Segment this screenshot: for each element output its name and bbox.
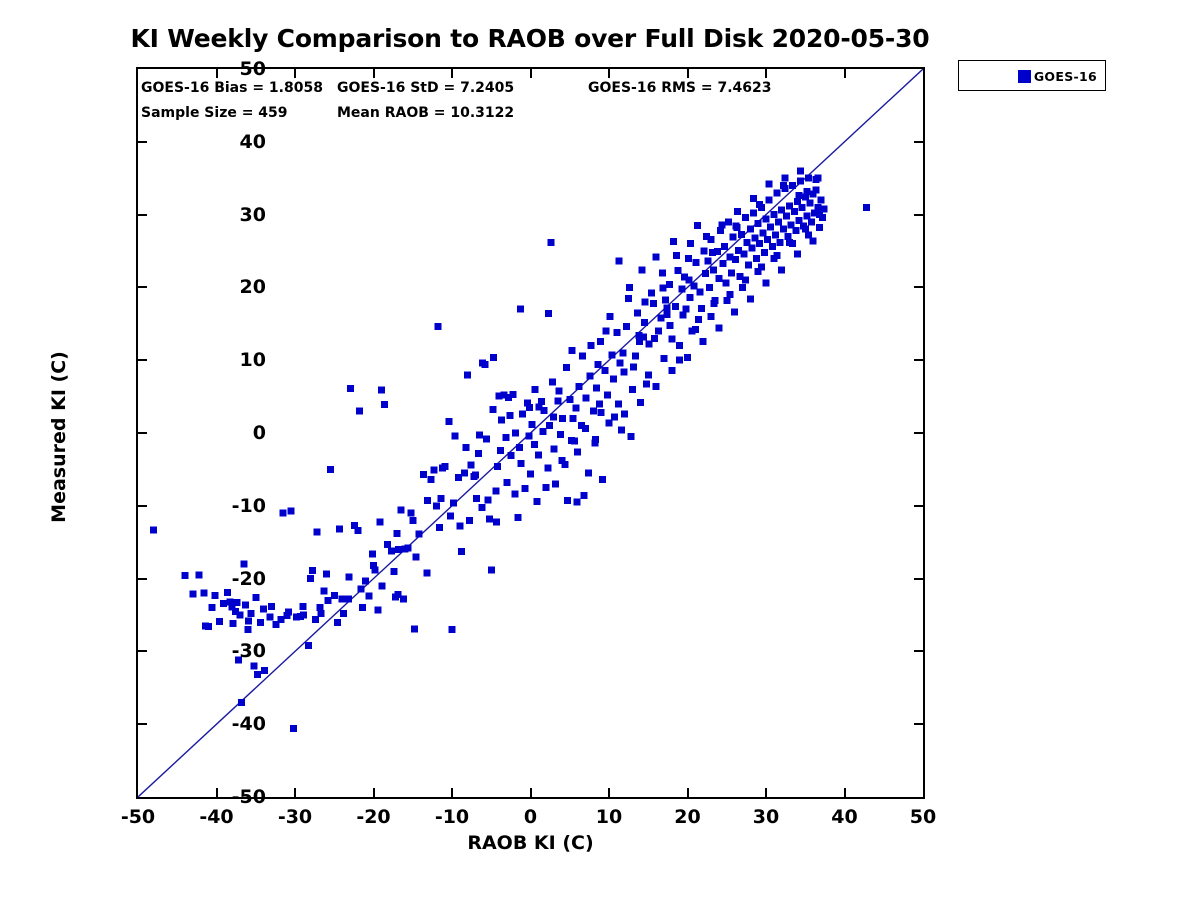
data-point <box>277 616 284 623</box>
data-point <box>821 205 828 212</box>
y-tick-40 <box>914 141 923 143</box>
data-point <box>741 250 748 257</box>
data-point <box>747 296 754 303</box>
data-point <box>621 411 628 418</box>
data-point <box>356 408 363 415</box>
x-tick-label--40: -40 <box>172 806 262 828</box>
x-tick--30 <box>294 788 296 797</box>
data-point <box>568 437 575 444</box>
data-point <box>694 222 701 229</box>
data-point <box>750 210 757 217</box>
data-point <box>733 223 740 230</box>
data-point <box>555 387 562 394</box>
data-point <box>461 470 468 477</box>
data-point <box>780 182 787 189</box>
data-point <box>645 371 652 378</box>
data-point <box>512 430 519 437</box>
data-point <box>573 499 580 506</box>
y-tick-label--30: -30 <box>176 640 266 662</box>
data-point <box>664 304 671 311</box>
data-point <box>285 609 292 616</box>
data-point <box>725 218 732 225</box>
data-point <box>613 329 620 336</box>
data-point <box>698 305 705 312</box>
data-point <box>365 593 372 600</box>
data-point <box>731 309 738 316</box>
data-point <box>789 240 796 247</box>
y-tick--40 <box>138 723 147 725</box>
x-tick--20 <box>373 788 375 797</box>
data-point <box>552 480 559 487</box>
data-point <box>582 425 589 432</box>
data-point <box>730 234 737 241</box>
data-point <box>394 530 401 537</box>
data-point <box>715 275 722 282</box>
data-point <box>558 457 565 464</box>
y-tick-10 <box>138 359 147 361</box>
data-point <box>485 496 492 503</box>
data-point <box>532 386 539 393</box>
data-point <box>251 662 258 669</box>
data-point <box>216 618 223 625</box>
chart-canvas: KI Weekly Comparison to RAOB over Full D… <box>0 0 1200 900</box>
y-tick-label-10: 10 <box>176 349 266 371</box>
data-point <box>519 411 526 418</box>
data-point <box>305 642 312 649</box>
data-point <box>766 181 773 188</box>
data-point <box>434 323 441 330</box>
data-point <box>449 626 456 633</box>
data-point <box>563 364 570 371</box>
data-point <box>769 243 776 250</box>
x-axis-title: RAOB KI (C) <box>136 832 925 854</box>
data-point <box>483 435 490 442</box>
data-point <box>517 306 524 313</box>
data-point <box>458 548 465 555</box>
x-tick-label-50: 50 <box>878 806 968 828</box>
data-point <box>334 619 341 626</box>
data-point <box>242 601 249 608</box>
data-point <box>481 361 488 368</box>
data-point <box>573 405 580 412</box>
data-point <box>492 488 499 495</box>
data-point <box>632 352 639 359</box>
data-point <box>704 258 711 265</box>
data-point <box>522 485 529 492</box>
y-tick--10 <box>138 505 147 507</box>
data-point <box>797 167 804 174</box>
data-point <box>675 267 682 274</box>
x-tick-30 <box>765 788 767 797</box>
data-point <box>538 398 545 405</box>
page-title: KI Weekly Comparison to RAOB over Full D… <box>0 24 1060 53</box>
data-point <box>643 381 650 388</box>
data-point <box>797 178 804 185</box>
data-point <box>379 582 386 589</box>
data-point <box>778 266 785 273</box>
data-point <box>331 592 338 599</box>
data-point <box>609 352 616 359</box>
data-point <box>638 266 645 273</box>
data-point <box>525 432 532 439</box>
data-point <box>490 354 497 361</box>
data-point <box>268 603 275 610</box>
data-point <box>579 352 586 359</box>
data-point <box>288 507 295 514</box>
x-tick-40 <box>844 69 846 78</box>
data-point <box>245 617 252 624</box>
data-point <box>806 199 813 206</box>
data-point <box>526 404 533 411</box>
data-point <box>574 448 581 455</box>
data-point <box>706 284 713 291</box>
data-point <box>610 376 617 383</box>
data-point <box>543 484 550 491</box>
data-point <box>476 432 483 439</box>
data-point <box>430 467 437 474</box>
data-point <box>708 313 715 320</box>
data-point <box>653 253 660 260</box>
data-point <box>511 491 518 498</box>
data-point <box>569 347 576 354</box>
data-point <box>489 406 496 413</box>
data-point <box>339 595 346 602</box>
data-point <box>503 479 510 486</box>
data-point <box>750 195 757 202</box>
data-point <box>323 571 330 578</box>
data-point <box>783 213 790 220</box>
x-tick-label--30: -30 <box>250 806 340 828</box>
data-point <box>557 431 564 438</box>
data-point <box>411 625 418 632</box>
data-point <box>686 277 693 284</box>
data-point <box>438 495 445 502</box>
data-point <box>336 526 343 533</box>
data-point <box>668 367 675 374</box>
data-point <box>684 354 691 361</box>
y-tick-label-40: 40 <box>176 131 266 153</box>
data-point <box>710 266 717 273</box>
data-point <box>397 507 404 514</box>
data-point <box>863 204 870 211</box>
x-tick-10 <box>608 69 610 78</box>
legend-label-goes-16: GOES-16 <box>1034 69 1097 84</box>
data-point <box>324 597 331 604</box>
x-tick--30 <box>294 69 296 78</box>
data-point <box>664 311 671 318</box>
data-point <box>722 280 729 287</box>
data-point <box>447 512 454 519</box>
data-point <box>580 492 587 499</box>
data-point <box>679 285 686 292</box>
data-point <box>618 427 625 434</box>
y-tick-0 <box>914 432 923 434</box>
data-point <box>340 610 347 617</box>
data-point <box>384 541 391 548</box>
data-point <box>452 432 459 439</box>
data-point <box>780 226 787 233</box>
data-point <box>211 592 218 599</box>
data-point <box>686 294 693 301</box>
data-point <box>450 499 457 506</box>
data-point <box>473 495 480 502</box>
data-point <box>648 290 655 297</box>
data-point <box>630 363 637 370</box>
data-point <box>805 175 812 182</box>
data-point <box>695 316 702 323</box>
data-point <box>233 599 240 606</box>
data-point <box>416 531 423 538</box>
data-point <box>685 255 692 262</box>
data-point <box>549 379 556 386</box>
data-point <box>359 604 366 611</box>
data-point <box>597 338 604 345</box>
data-point <box>220 600 227 607</box>
data-point <box>676 357 683 364</box>
data-point <box>634 309 641 316</box>
data-point <box>753 255 760 262</box>
data-point <box>569 415 576 422</box>
data-point <box>766 197 773 204</box>
data-point <box>732 256 739 263</box>
data-point <box>625 295 632 302</box>
data-point <box>381 401 388 408</box>
y-tick-40 <box>138 141 147 143</box>
data-point <box>564 497 571 504</box>
data-point <box>697 288 704 295</box>
data-point <box>585 470 592 477</box>
data-point <box>620 349 627 356</box>
data-point <box>189 590 196 597</box>
data-point <box>467 462 474 469</box>
data-point <box>400 595 407 602</box>
y-tick-10 <box>914 359 923 361</box>
data-point <box>472 472 479 479</box>
data-point <box>606 313 613 320</box>
data-point <box>657 314 664 321</box>
data-point <box>659 269 666 276</box>
data-point <box>602 367 609 374</box>
data-point <box>257 619 264 626</box>
x-tick--20 <box>373 69 375 78</box>
x-tick-label-30: 30 <box>721 806 811 828</box>
data-point <box>595 361 602 368</box>
y-tick-20 <box>914 286 923 288</box>
data-point <box>583 395 590 402</box>
data-point <box>527 470 534 477</box>
data-point <box>660 285 667 292</box>
data-point <box>376 518 383 525</box>
data-point <box>721 243 728 250</box>
x-tick--10 <box>451 788 453 797</box>
y-tick--20 <box>914 578 923 580</box>
y-tick-label-20: 20 <box>176 276 266 298</box>
data-point <box>814 175 821 182</box>
data-point <box>545 310 552 317</box>
data-point <box>266 614 273 621</box>
data-point <box>309 567 316 574</box>
data-point <box>466 517 473 524</box>
data-point <box>252 594 259 601</box>
data-point <box>773 189 780 196</box>
data-point <box>764 236 771 243</box>
data-point <box>347 385 354 392</box>
data-point <box>756 240 763 247</box>
data-point <box>758 264 765 271</box>
data-point <box>507 412 514 419</box>
y-tick-label-0: 0 <box>176 422 266 444</box>
x-tick-20 <box>687 788 689 797</box>
data-point <box>390 568 397 575</box>
data-point <box>653 383 660 390</box>
data-point <box>604 392 611 399</box>
data-point <box>307 575 314 582</box>
x-tick-label-10: 10 <box>564 806 654 828</box>
data-point <box>817 197 824 204</box>
data-point <box>299 603 306 610</box>
data-point <box>463 444 470 451</box>
y-tick-0 <box>138 432 147 434</box>
data-point <box>290 725 297 732</box>
data-point <box>510 391 517 398</box>
data-point <box>742 277 749 284</box>
y-tick-30 <box>138 214 147 216</box>
data-point <box>742 214 749 221</box>
data-point <box>456 523 463 530</box>
data-point <box>739 284 746 291</box>
data-point <box>591 440 598 447</box>
legend: GOES-16 <box>958 60 1106 91</box>
data-point <box>531 441 538 448</box>
data-point <box>795 192 802 199</box>
y-tick--40 <box>914 723 923 725</box>
data-point <box>362 577 369 584</box>
data-point <box>672 303 679 310</box>
data-point <box>606 419 613 426</box>
data-point <box>150 526 157 533</box>
y-tick--30 <box>138 650 147 652</box>
data-point <box>655 328 662 335</box>
data-point <box>756 201 763 208</box>
data-point <box>814 204 821 211</box>
data-point <box>640 333 647 340</box>
data-point <box>687 240 694 247</box>
y-tick-label-30: 30 <box>176 204 266 226</box>
data-point <box>755 220 762 227</box>
data-point <box>455 474 462 481</box>
data-point <box>759 229 766 236</box>
data-point <box>596 400 603 407</box>
data-point <box>533 498 540 505</box>
y-tick-30 <box>914 214 923 216</box>
data-point <box>775 218 782 225</box>
x-tick-30 <box>765 69 767 78</box>
data-point <box>327 466 334 473</box>
data-point <box>719 260 726 267</box>
data-point <box>551 446 558 453</box>
data-point <box>321 587 328 594</box>
data-point <box>773 252 780 259</box>
data-point <box>599 476 606 483</box>
data-point <box>554 397 561 404</box>
data-point <box>770 211 777 218</box>
data-point <box>312 616 319 623</box>
data-point <box>748 245 755 252</box>
y-tick--20 <box>138 578 147 580</box>
data-point <box>715 325 722 332</box>
data-point <box>535 451 542 458</box>
data-point <box>516 444 523 451</box>
data-point <box>405 545 412 552</box>
data-point <box>518 460 525 467</box>
data-point <box>260 606 267 613</box>
data-point <box>745 261 752 268</box>
data-point <box>803 188 810 195</box>
data-point <box>651 335 658 342</box>
data-point <box>423 569 430 576</box>
x-tick-label-20: 20 <box>643 806 733 828</box>
data-point <box>475 450 482 457</box>
data-point <box>747 226 754 233</box>
x-tick--10 <box>451 69 453 78</box>
data-point <box>224 589 231 596</box>
data-point <box>229 620 236 627</box>
y-tick-20 <box>138 286 147 288</box>
data-point <box>598 409 605 416</box>
y-tick-label--20: -20 <box>176 568 266 590</box>
data-point <box>313 529 320 536</box>
data-point <box>378 387 385 394</box>
data-point <box>799 204 806 211</box>
data-point <box>791 208 798 215</box>
y-tick-label-50: 50 <box>176 58 266 80</box>
data-point <box>816 224 823 231</box>
y-tick-label--50: -50 <box>176 786 266 808</box>
x-tick-label--10: -10 <box>407 806 497 828</box>
data-point <box>777 239 784 246</box>
y-axis-title: Measured KI (C) <box>48 71 70 803</box>
data-point <box>200 590 207 597</box>
data-point <box>503 434 510 441</box>
data-point <box>375 606 382 613</box>
data-point <box>441 463 448 470</box>
data-point <box>409 517 416 524</box>
data-point <box>497 447 504 454</box>
data-point <box>587 373 594 380</box>
data-point <box>711 300 718 307</box>
data-point <box>436 524 443 531</box>
data-point <box>424 497 431 504</box>
data-point <box>728 269 735 276</box>
data-point <box>794 250 801 257</box>
data-point <box>650 300 657 307</box>
data-point <box>478 504 485 511</box>
data-point <box>590 408 597 415</box>
x-tick-label--50: -50 <box>93 806 183 828</box>
data-point <box>637 399 644 406</box>
data-point <box>719 221 726 228</box>
data-point <box>627 433 634 440</box>
data-point <box>693 259 700 266</box>
data-point <box>205 623 212 630</box>
data-point <box>412 553 419 560</box>
data-point <box>692 326 699 333</box>
data-point <box>670 238 677 245</box>
data-point <box>789 182 796 189</box>
data-point <box>808 218 815 225</box>
data-point <box>593 384 600 391</box>
data-point <box>486 515 493 522</box>
